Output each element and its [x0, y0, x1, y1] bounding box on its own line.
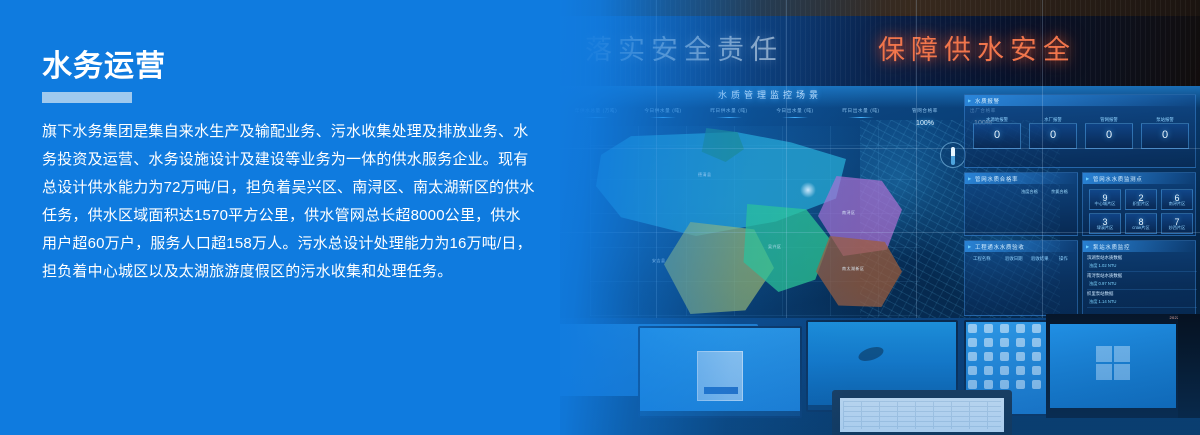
panel-header: 管网水水质监测点: [1083, 173, 1195, 184]
taskbar[interactable]: [640, 411, 800, 416]
screen-seam: [1042, 0, 1043, 318]
desktop-icon[interactable]: [984, 338, 993, 347]
kpi-item: 今日出水量 (吨): [764, 108, 826, 120]
monitor-point-cell[interactable]: 8 спан片区: [1125, 213, 1157, 234]
water-quality-dashboard: 水质管理监控场景 年供水总量 (万吨) 今日供水量 (吨) 昨日供水量 (吨): [560, 86, 1200, 318]
desktop-icon[interactable]: [968, 380, 977, 389]
desktop-icon[interactable]: [1032, 324, 1041, 333]
screen-seam: [560, 232, 1200, 233]
pump-alarm-row[interactable]: 织里泵站数据 浊度 1.14 NTU 2022-11-9 18:21: [1087, 291, 1197, 308]
panel-water-quality-alarm: 水质报警 水源地报警 0 水厂报警 0 管网报警 0 泵站报警: [964, 94, 1196, 168]
desktop-icon[interactable]: [1000, 366, 1009, 375]
dialog-button[interactable]: [704, 387, 738, 394]
paragraph-line: 旗下水务集团是集自来水生产及输配业务、污水收集处理及排放业务、水: [42, 118, 540, 146]
desktop-icon[interactable]: [968, 352, 977, 361]
monitor-point-cell[interactable]: 2 织里片区: [1125, 189, 1157, 210]
desktop-icon[interactable]: [1032, 366, 1041, 375]
kpi-underline: [848, 117, 874, 118]
monitor-report: [638, 326, 802, 418]
kpi-item: 昨日供水量 (吨): [698, 108, 760, 120]
legend-entry: 余氯合格: [1051, 189, 1068, 195]
screen-seam: [916, 0, 917, 318]
led-slogan-left: 落实安全责任: [585, 28, 783, 67]
paragraph-line: 总设计供水能力为72万吨/日，担负着吴兴区、南浔区、南太湖新区的供水: [42, 174, 540, 202]
dialog-window[interactable]: [697, 351, 743, 401]
desktop-icon[interactable]: [968, 338, 977, 347]
desktop-icon[interactable]: [1016, 338, 1025, 347]
table-column-header: 验收结果: [1031, 256, 1049, 262]
table-column-header: 操作: [1059, 256, 1068, 262]
dashboard-right-panels: 水质报警 水源地报警 0 水厂报警 0 管网报警 0 泵站报警: [964, 86, 1200, 318]
kpi-item: 昨日出水量 (吨): [830, 108, 892, 120]
monitor-bezel: [1178, 314, 1200, 418]
title-underline-bar: [42, 92, 132, 103]
kpi-item: 今日供水量 (吨): [632, 108, 694, 120]
monitor-point-cell[interactable]: 9 中心城片区: [1089, 189, 1121, 210]
diver-silhouette: [857, 345, 885, 364]
map-region-label: 南太湖新区: [842, 266, 865, 272]
desktop-icon[interactable]: [1016, 352, 1025, 361]
desktop-icon[interactable]: [1000, 380, 1009, 389]
map-highlight-pulse: [800, 182, 816, 198]
table-column-header: 工程名称: [973, 256, 991, 262]
panel-pump-station-monitor: 泵站水质监控 滨湖泵站水质数据 浊度 1.02 NTU 2022-11-9 18…: [1082, 240, 1196, 316]
region-map: 德清县 安吉县 吴兴区 南浔区 南太湖新区: [590, 126, 920, 316]
desktop-icon[interactable]: [968, 324, 977, 333]
desktop-icon[interactable]: [1000, 338, 1009, 347]
paragraph-line: 担负着中心城区以及太湖旅游度假区的污水收集和处理任务。: [42, 258, 540, 286]
panel-pipeline-pass-rate: 管网水质合格率 浊度合格 余氯合格: [964, 172, 1078, 236]
desktop-icon[interactable]: [1016, 324, 1025, 333]
desk-laptop: [832, 390, 1012, 435]
control-room-photo: 落实安全责任 保障供水安全 水质管理监控场景 年供水总量 (万吨) 今日供水量 …: [560, 0, 1200, 435]
panel-header: 工程通水水质验收: [965, 241, 1077, 252]
kpi-underline: [716, 117, 742, 118]
monitor-point-cell[interactable]: 7 妙西片区: [1161, 213, 1193, 234]
panel-header: 水质报警: [965, 95, 1195, 106]
desktop-icon[interactable]: [1000, 324, 1009, 333]
description-paragraph: 旗下水务集团是集自来水生产及输配业务、污水收集处理及排放业务、水 务投资及运营、…: [42, 118, 540, 286]
desktop-icon[interactable]: [1032, 352, 1041, 361]
monitor-windows: 2022-11-9 18:23: [1046, 314, 1200, 418]
kpi-underline: [650, 117, 676, 118]
page-title: 水务运营: [42, 52, 166, 82]
operator-desk: 2022-11-9 18:23: [560, 318, 1200, 435]
map-region-label: 德清县: [698, 172, 712, 178]
led-slogan-right: 保障供水安全: [878, 28, 1076, 67]
monitor-point-cell[interactable]: 3 埭溪片区: [1089, 213, 1121, 234]
desktop-icon[interactable]: [1032, 380, 1041, 389]
desktop-icon[interactable]: [1000, 352, 1009, 361]
desktop-icon-grid[interactable]: [968, 324, 1047, 393]
monitor-report-screen: [640, 328, 800, 416]
panel-project-acceptance: 工程通水水质验收 工程名称 验收日期 验收结果 操作: [964, 240, 1078, 316]
map-region-label: 南浔区: [842, 210, 856, 216]
screen-seam: [560, 148, 1200, 149]
compass-icon: [940, 142, 966, 168]
desktop-icon[interactable]: [1032, 338, 1041, 347]
desktop-icon[interactable]: [984, 380, 993, 389]
panel-header: 管网水质合格率: [965, 173, 1077, 184]
panel-header: 泵站水质监控: [1083, 241, 1195, 252]
table-column-header: 验收日期: [1005, 256, 1023, 262]
alarm-card[interactable]: 泵站报警 0: [1141, 123, 1189, 149]
screen-seam: [656, 0, 657, 318]
paragraph-line: 用户超60万户，服务人口超158万人。污水总设计处理能力为16万吨/日，: [42, 230, 540, 258]
map-region-label: 安吉县: [652, 258, 666, 264]
desktop-icon[interactable]: [984, 352, 993, 361]
desktop-icon[interactable]: [984, 324, 993, 333]
desktop-icon[interactable]: [984, 366, 993, 375]
dashboard-title: 水质管理监控场景: [660, 88, 880, 101]
pump-alarm-row[interactable]: 滨湖泵站水质数据 浊度 1.02 NTU 2022-11-9 18:23: [1087, 255, 1197, 272]
screen-seam: [786, 0, 787, 318]
alarm-card[interactable]: 管网报警 0: [1085, 123, 1133, 149]
desktop-icon[interactable]: [1016, 366, 1025, 375]
legend-entry: 浊度合格: [1021, 189, 1038, 195]
text-content: 水务运营 旗下水务集团是集自来水生产及输配业务、污水收集处理及排放业务、水 务投…: [0, 0, 600, 435]
map-region-label: 吴兴区: [768, 244, 782, 250]
paragraph-line: 务投资及运营、水务设施设计及建设等业务为一体的供水服务企业。现有: [42, 146, 540, 174]
windows-logo-icon: [1096, 346, 1130, 380]
panel-monitoring-points: 管网水水质监测点 9 中心城片区 2 织里片区 6 南浔片区 3: [1082, 172, 1196, 236]
alarm-card[interactable]: 水源地报警 0: [973, 123, 1021, 149]
desktop-icon[interactable]: [1016, 380, 1025, 389]
desktop-icon[interactable]: [968, 366, 977, 375]
water-operations-banner: 落实安全责任 保障供水安全 水质管理监控场景 年供水总量 (万吨) 今日供水量 …: [0, 0, 1200, 435]
windows-desktop-screen: [1050, 324, 1176, 408]
paragraph-line: 任务，供水区域面积达1570平方公里，供水管网总长超8000公里，供水: [42, 202, 540, 230]
pump-alarm-row[interactable]: 南浔泵站水质数据 浊度 0.97 NTU 2022-11-9 18:22: [1087, 273, 1197, 290]
monitor-point-cell[interactable]: 6 南浔片区: [1161, 189, 1193, 210]
alarm-card[interactable]: 水厂报警 0: [1029, 123, 1077, 149]
spreadsheet-window[interactable]: [840, 398, 1004, 432]
